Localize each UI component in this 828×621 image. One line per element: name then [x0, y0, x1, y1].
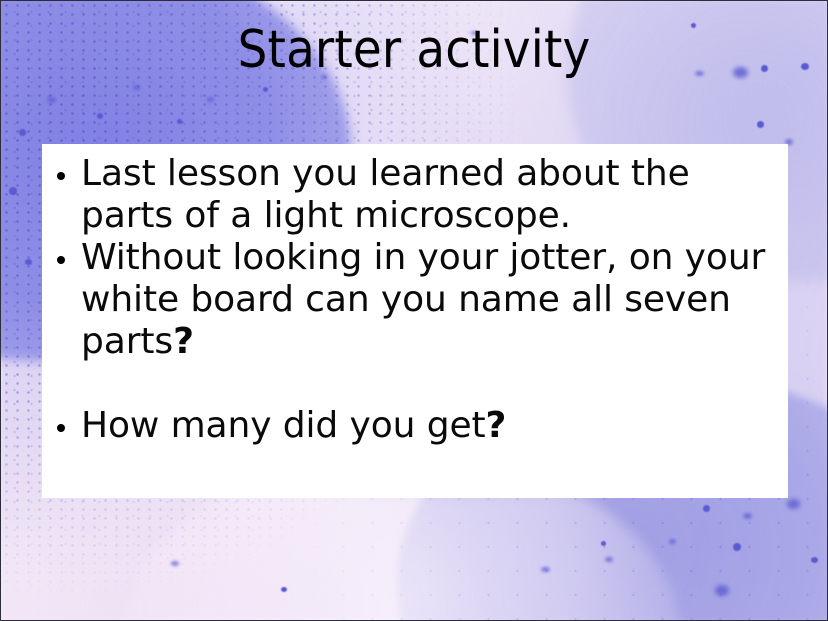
bullet-item: Last lesson you learned about the parts … — [42, 153, 788, 237]
bullet-item: How many did you get? — [42, 405, 788, 447]
bullet-emphasis: ? — [173, 321, 194, 362]
slide-title: Starter activity — [1, 19, 827, 81]
slide: Starter activity Last lesson you learned… — [0, 0, 828, 621]
bullet-text: Last lesson you learned about the parts … — [81, 153, 690, 236]
bullet-text: How many did you get — [81, 405, 486, 446]
bullet-item: Without looking in your jotter, on your … — [42, 237, 788, 363]
content-panel: Last lesson you learned about the parts … — [42, 144, 788, 498]
bullet-list: Last lesson you learned about the parts … — [42, 153, 788, 447]
bullet-emphasis: ? — [486, 405, 507, 446]
